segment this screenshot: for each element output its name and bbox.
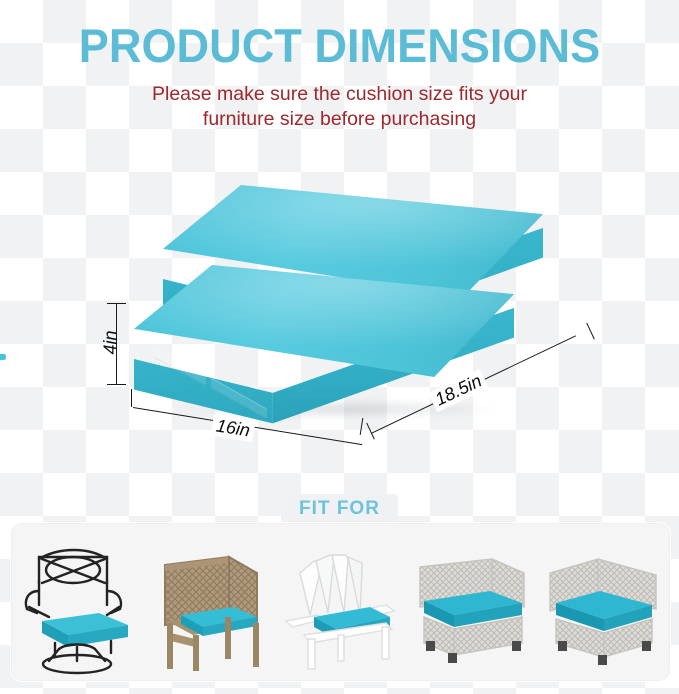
furniture-item-swivel-rocker-chair: [15, 543, 139, 675]
armless-sectional-sofa-icon: [410, 543, 534, 675]
adirondack-chair-icon: [278, 543, 402, 675]
page-subtitle: Please make sure the cushion size fits y…: [0, 69, 679, 132]
corner-sectional-sofa-icon: [542, 543, 666, 675]
infographic-page: PRODUCT DIMENSIONS Please make sure the …: [0, 0, 679, 694]
height-dimension-label: 4in: [101, 330, 122, 354]
furniture-item-wicker-dining-chair: [147, 543, 271, 675]
wicker-dining-chair-icon: [147, 543, 271, 675]
subtitle-line-1: Please make sure the cushion size fits y…: [0, 82, 679, 107]
fit-for-furniture-panel: [10, 522, 671, 682]
cushion-bottom-top-face: [134, 265, 514, 377]
depth-dimension-cap-right: [586, 323, 595, 340]
swivel-rocker-chair-icon: [15, 543, 139, 675]
subtitle-line-2: furniture size before purchasing: [0, 107, 679, 132]
product-illustration: 4in 16in 18.5in: [0, 160, 679, 480]
furniture-item-corner-sectional-sofa: [542, 543, 666, 675]
fit-for-badge: FIT FOR: [281, 494, 398, 524]
furniture-item-adirondack-chair: [278, 543, 402, 675]
page-title: PRODUCT DIMENSIONS: [14, 0, 666, 69]
height-dimension-cap-top: [107, 303, 126, 304]
furniture-item-armless-sectional-sofa: [410, 543, 534, 675]
cushion-tie-strap: [0, 354, 6, 364]
height-dimension-cap-bottom: [107, 384, 126, 385]
width-dimension-cap-left: [131, 389, 132, 407]
fit-for-label: FIT FOR: [299, 498, 380, 520]
header: PRODUCT DIMENSIONS Please make sure the …: [0, 0, 679, 132]
